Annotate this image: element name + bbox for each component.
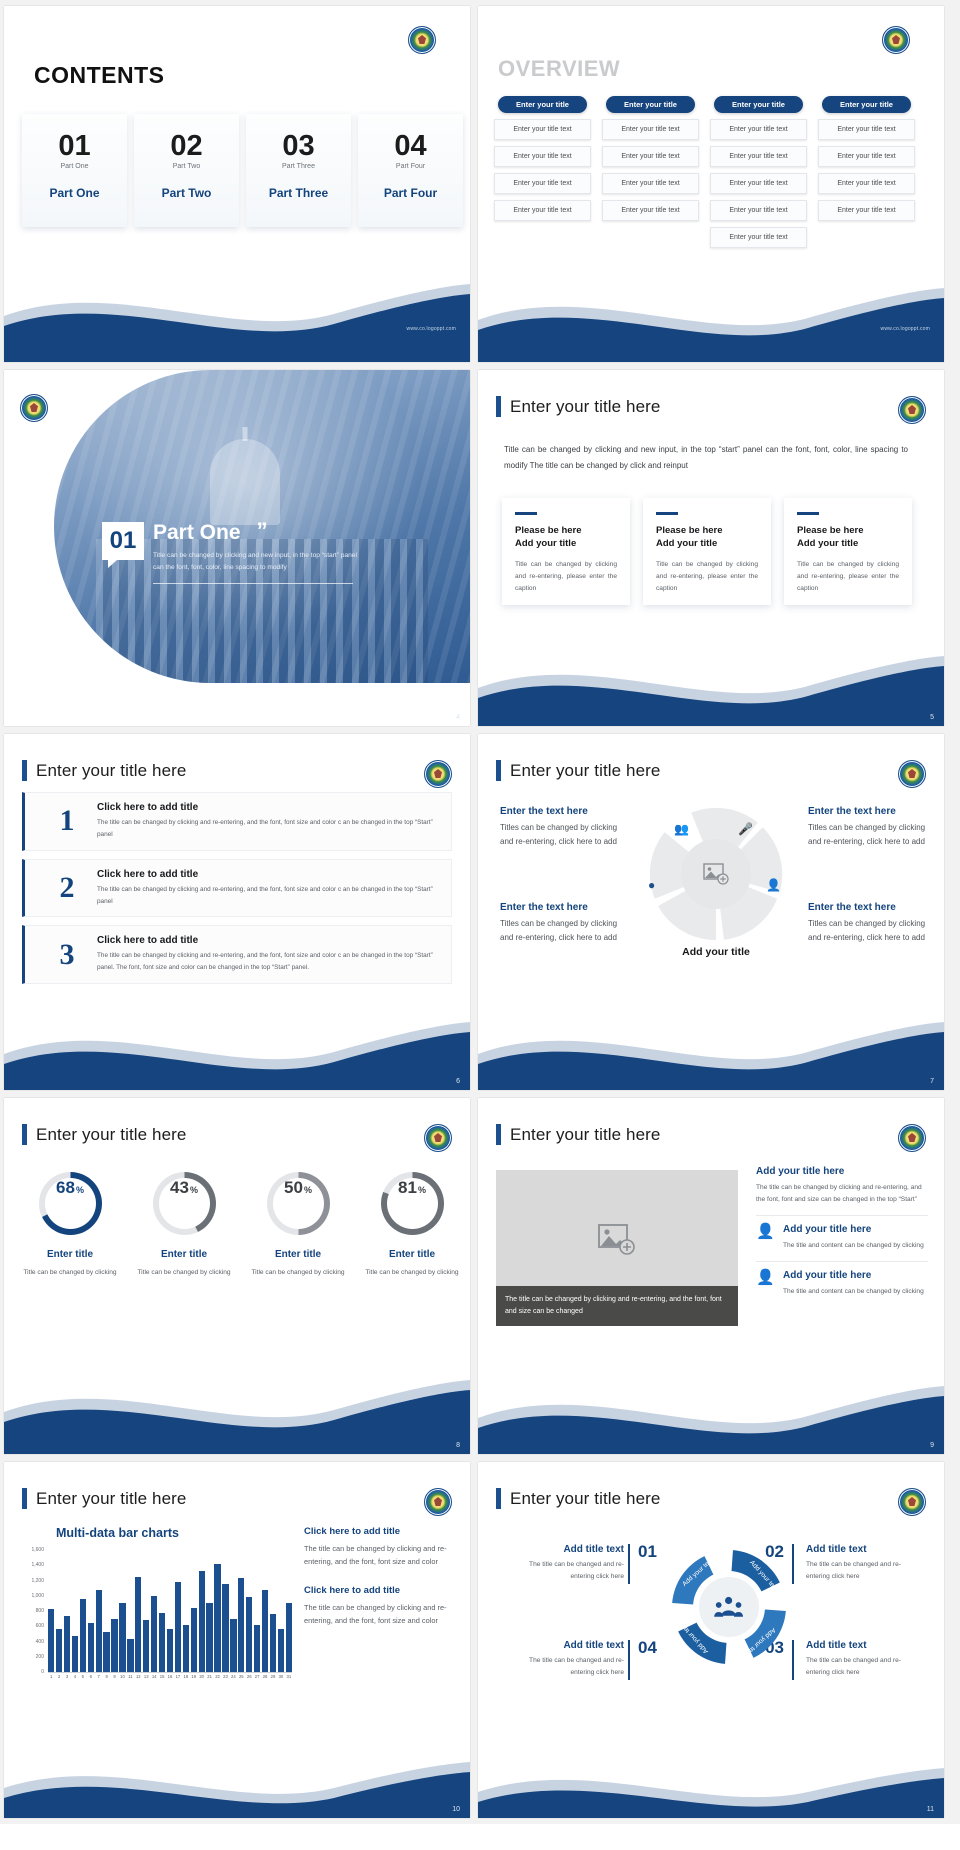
y-tick-label: 1,400 (31, 1562, 44, 1568)
text-body: The title can be changed by clicking and… (304, 1601, 456, 1628)
group-people-icon: 👥 (674, 822, 689, 836)
person-avatar-icon: 👤 (756, 1270, 775, 1289)
image-caption: The title can be changed by clicking and… (496, 1286, 738, 1326)
overview-column: Enter your title Enter your title text E… (710, 96, 807, 248)
dome-shape-icon (210, 439, 280, 525)
donut-label: Enter title (161, 1249, 207, 1260)
list-item[interactable]: 👤 Add your title here The title and cont… (756, 1261, 928, 1298)
label-title: Enter the text here (500, 806, 622, 817)
donut-value: 43 (170, 1178, 189, 1198)
overview-column: Enter your title Enter your title text E… (818, 96, 915, 248)
x-tick-label: 15 (159, 1674, 165, 1679)
page-number: 9 (930, 1442, 934, 1449)
y-tick-label: 1,600 (31, 1547, 44, 1553)
slide-grid: CONTENTS 01 Part One Part One 02 Part Tw… (0, 0, 960, 1824)
label-body: Titles can be changed by clicking and re… (500, 821, 622, 849)
footer-url: www.co.logoppt.com (881, 326, 930, 332)
column-title-pill[interactable]: Enter your title (714, 96, 803, 113)
cycle-item-top-right[interactable]: Add title text The title can be changed … (806, 1544, 918, 1583)
y-tick-label: 1,200 (31, 1578, 44, 1584)
university-logo-icon (898, 1488, 926, 1516)
bar (238, 1578, 244, 1672)
bar (206, 1603, 212, 1672)
bar (111, 1619, 117, 1672)
cycle-accent-bar (628, 1544, 630, 1584)
donut-percent-sign: % (304, 1185, 312, 1195)
diagram-label-top-left: Enter the text here Titles can be change… (500, 806, 622, 849)
item-title: Click here to add title (97, 869, 439, 880)
bar (262, 1590, 268, 1672)
donut-stat[interactable]: 50 % Enter title Title can be changed by… (244, 1172, 352, 1279)
item-body: The title can be changed and re-entering… (512, 1559, 624, 1583)
page-title: Enter your title here (36, 1125, 186, 1145)
page-title-row: Enter your title here (496, 1124, 660, 1145)
item-title: Click here to add title (97, 802, 439, 813)
headset-support-icon: 🎤 (738, 822, 753, 836)
x-tick-label: 29 (270, 1674, 276, 1679)
overview-box[interactable]: Enter your title text (602, 119, 699, 140)
x-tick-label: 23 (222, 1674, 228, 1679)
page-title: Enter your title here (36, 761, 186, 781)
card-number: 02 (170, 132, 202, 161)
bar (286, 1603, 292, 1672)
bar-chart: 1,6001,4001,2001,0008006004002000 123456… (24, 1550, 292, 1690)
donut-stat[interactable]: 81 % Enter title Title can be changed by… (358, 1172, 466, 1279)
overview-box[interactable]: Enter your title text (818, 173, 915, 194)
y-tick-label: 400 (36, 1639, 44, 1645)
slide-overview[interactable]: OVERVIEW Enter your title Enter your tit… (478, 6, 944, 362)
donut-chart: 81 % (381, 1172, 444, 1235)
label-title: Enter the text here (500, 902, 622, 913)
x-axis-labels: 1234567891011121314151617181920212223242… (48, 1674, 292, 1679)
x-tick-label: 13 (143, 1674, 149, 1679)
bar (278, 1629, 284, 1672)
x-tick-label: 8 (103, 1674, 109, 1679)
item-title: Add title text (806, 1544, 918, 1555)
slide-contents[interactable]: CONTENTS 01 Part One Part One 02 Part Tw… (4, 6, 470, 362)
item-body: The title can be changed and re-entering… (512, 1655, 624, 1679)
wave-decoration (4, 270, 470, 362)
image-placeholder-icon (703, 863, 729, 885)
card-body: Title can be changed by clicking and re-… (515, 559, 617, 596)
donut-label: Enter title (389, 1249, 435, 1260)
bar (199, 1571, 205, 1672)
card-title-line1: Please be here (797, 525, 864, 536)
column-title-pill[interactable]: Enter your title (822, 96, 911, 113)
column-title-pill[interactable]: Enter your title (498, 96, 587, 113)
donut-sublabel: Title can be changed by clicking (251, 1267, 344, 1279)
card-body: Title can be changed by clicking and re-… (797, 559, 899, 596)
donut-chart: 43 % (153, 1172, 216, 1235)
card-name: Part Two (162, 186, 212, 200)
wave-decoration (4, 1726, 470, 1818)
card-number: 04 (394, 132, 426, 161)
donut-percent-sign: % (418, 1185, 426, 1195)
x-tick-label: 12 (135, 1674, 141, 1679)
slide-donut-stats[interactable]: Enter your title here 68 % Enter title T… (4, 1098, 470, 1454)
donut-chart: 68 % (39, 1172, 102, 1235)
section-heading-block: 01 Part One ” Title can be changed by cl… (102, 522, 358, 584)
overview-box[interactable]: Enter your title text (494, 173, 591, 194)
list-item[interactable]: 1 Click here to add title The title can … (22, 792, 452, 851)
slide-cycle-diagram[interactable]: Enter your title here Add title text The… (478, 1462, 944, 1818)
diagram-center-label: Add your title (646, 946, 786, 958)
bar (72, 1636, 78, 1672)
card-body: Title can be changed by clicking and re-… (656, 559, 758, 596)
bar (151, 1596, 157, 1672)
card-subtitle: Part One (60, 163, 88, 170)
lead-paragraph: Title can be changed by clicking and new… (504, 442, 908, 474)
bar (135, 1577, 141, 1672)
wave-decoration (478, 998, 944, 1090)
x-tick-label: 18 (183, 1674, 189, 1679)
item-title: Click here to add title (97, 935, 439, 946)
info-card[interactable]: Please be hereAdd your title Title can b… (643, 498, 771, 605)
page-title-row: Enter your title here (22, 1124, 186, 1145)
cycle-accent-bar (792, 1640, 794, 1680)
overview-box[interactable]: Enter your title text (602, 146, 699, 167)
donut-value: 50 (284, 1178, 303, 1198)
lead-body: The title can be changed by clicking and… (756, 1182, 928, 1206)
contents-card[interactable]: 04 Part Four Part Four (358, 114, 463, 227)
slide-section-divider[interactable]: 01 Part One ” Title can be changed by cl… (4, 370, 470, 726)
page-number: 7 (930, 1078, 934, 1085)
item-body: The title can be changed by clicking and… (97, 884, 439, 908)
plot-area (48, 1550, 292, 1673)
page-number: 5 (930, 714, 934, 721)
card-number: 01 (58, 132, 90, 161)
overview-box[interactable]: Enter your title text (602, 173, 699, 194)
x-tick-label: 10 (119, 1674, 125, 1679)
x-tick-label: 19 (191, 1674, 197, 1679)
card-subtitle: Part Two (173, 163, 201, 170)
donut-chart: 50 % (267, 1172, 330, 1235)
title-accent-bar (496, 1488, 501, 1509)
contents-card[interactable]: 01 Part One Part One (22, 114, 127, 227)
list-item[interactable]: 3 Click here to add title The title can … (22, 925, 452, 984)
page-number: 11 (927, 1806, 934, 1813)
bar (88, 1623, 94, 1672)
item-body: The title can be changed by clicking and… (97, 817, 439, 841)
wave-decoration (478, 634, 944, 726)
overview-box[interactable]: Enter your title text (602, 200, 699, 221)
slide-three-cards[interactable]: Enter your title here Title can be chang… (478, 370, 944, 726)
x-tick-label: 9 (111, 1674, 117, 1679)
list-item[interactable]: 👤 Add your title here The title and cont… (756, 1215, 928, 1252)
circle-diagram[interactable]: 👥 🎤 ● 👤 (646, 804, 786, 944)
x-tick-label: 16 (167, 1674, 173, 1679)
donut-sublabel: Title can be changed by clicking (23, 1267, 116, 1279)
donut-row: 68 % Enter title Title can be changed by… (16, 1172, 466, 1279)
chart-side-text: Click here to add title The title can be… (304, 1526, 456, 1627)
section-description: Title can be changed by clicking and new… (153, 550, 358, 573)
x-tick-label: 21 (206, 1674, 212, 1679)
card-accent-dash (656, 512, 678, 515)
bar (143, 1620, 149, 1672)
title-accent-bar (496, 1124, 501, 1145)
x-tick-label: 1 (48, 1674, 54, 1679)
page-title-row: Enter your title here (22, 1488, 186, 1509)
page-title: Enter your title here (510, 397, 660, 417)
item-title: Add title text (512, 1640, 624, 1651)
wave-decoration (4, 998, 470, 1090)
x-tick-label: 27 (254, 1674, 260, 1679)
page-title: Enter your title here (510, 761, 660, 781)
page-title-row: Enter your title here (496, 1488, 660, 1509)
card-name: Part Four (384, 186, 437, 200)
overview-column: Enter your title Enter your title text E… (494, 96, 591, 248)
x-tick-label: 7 (96, 1674, 102, 1679)
card-number: 03 (282, 132, 314, 161)
bar (254, 1625, 260, 1672)
info-card[interactable]: Please be hereAdd your title Title can b… (784, 498, 912, 605)
page-title: OVERVIEW (498, 56, 620, 82)
item-body: The title can be changed and re-entering… (806, 1559, 918, 1583)
donut-label: Enter title (47, 1249, 93, 1260)
footer-url: www.co.logoppt.com (407, 326, 456, 332)
wave-decoration (4, 1362, 470, 1454)
page-number: 6 (456, 1078, 460, 1085)
overview-box[interactable]: Enter your title text (710, 119, 807, 140)
x-tick-label: 25 (238, 1674, 244, 1679)
diagram-label-top-right: Enter the text here Titles can be change… (808, 806, 933, 849)
university-logo-icon (898, 396, 926, 424)
x-tick-label: 17 (175, 1674, 181, 1679)
university-logo-icon (898, 760, 926, 788)
card-title-line2: Add your title (797, 538, 858, 549)
slide-numbered-list[interactable]: Enter your title here 1 Click here to ad… (4, 734, 470, 1090)
page-number: 10 (452, 1806, 460, 1813)
right-list: Add your title here The title can be cha… (756, 1166, 928, 1297)
card-subtitle: Part Three (282, 163, 315, 170)
x-tick-label: 4 (72, 1674, 78, 1679)
item-title: Add your title here (783, 1270, 924, 1281)
university-logo-icon (424, 1488, 452, 1516)
donut-percent-sign: % (190, 1185, 198, 1195)
bar (167, 1629, 173, 1672)
page-title: CONTENTS (34, 62, 165, 89)
overview-box[interactable]: Enter your title text (818, 200, 915, 221)
bar (48, 1609, 54, 1672)
overview-box[interactable]: Enter your title text (818, 119, 915, 140)
bar (80, 1599, 86, 1672)
bar (103, 1632, 109, 1672)
bar (175, 1582, 181, 1672)
chart-title: Multi-data bar charts (56, 1526, 179, 1540)
title-accent-bar (22, 1124, 27, 1145)
y-tick-label: 1,000 (31, 1593, 44, 1599)
wave-decoration (478, 1362, 944, 1454)
item-title: Add your title here (783, 1224, 924, 1235)
card-accent-dash (515, 512, 537, 515)
bar (127, 1639, 133, 1672)
x-tick-label: 2 (56, 1674, 62, 1679)
cycle-number: 01 (638, 1542, 657, 1562)
item-number: 2 (37, 873, 97, 903)
y-axis: 1,6001,4001,2001,0008006004002000 (24, 1550, 46, 1672)
university-logo-icon (424, 1124, 452, 1152)
bar (230, 1619, 236, 1672)
cycle-ring-diagram[interactable]: Add your text Add your text Add your tex… (666, 1544, 792, 1670)
title-accent-bar (496, 760, 501, 781)
donut-sublabel: Title can be changed by clicking (365, 1267, 458, 1279)
cycle-number: 04 (638, 1638, 657, 1658)
overview-box[interactable]: Enter your title text (818, 146, 915, 167)
bar (214, 1564, 220, 1672)
x-tick-label: 22 (214, 1674, 220, 1679)
x-tick-label: 26 (246, 1674, 252, 1679)
page-title-row: Enter your title here (496, 396, 660, 417)
university-logo-icon (898, 1124, 926, 1152)
diagram-label-bottom-right: Enter the text here Titles can be change… (808, 902, 933, 945)
y-tick-label: 600 (36, 1623, 44, 1629)
bar (64, 1616, 70, 1672)
overview-box[interactable]: Enter your title text (494, 119, 591, 140)
item-number: 1 (37, 806, 97, 836)
item-title: Add title text (512, 1544, 624, 1555)
card-accent-dash (797, 512, 819, 515)
donut-value: 68 (56, 1178, 75, 1198)
diagram-label-bottom-left: Enter the text here Titles can be change… (500, 902, 622, 945)
section-name: Part One (153, 522, 241, 543)
x-tick-label: 3 (64, 1674, 70, 1679)
contents-card[interactable]: 02 Part Two Part Two (134, 114, 239, 227)
cycle-accent-bar (628, 1640, 630, 1680)
donut-stat[interactable]: 68 % Enter title Title can be changed by… (16, 1172, 124, 1279)
item-title: Add title text (806, 1640, 918, 1651)
card-title-line1: Please be here (656, 525, 723, 536)
title-accent-bar (22, 1488, 27, 1509)
page-title: Enter your title here (510, 1489, 660, 1509)
donut-value: 81 (398, 1178, 417, 1198)
person-icon: 👤 (766, 878, 781, 892)
item-body: The title can be changed and re-entering… (806, 1655, 918, 1679)
x-tick-label: 24 (230, 1674, 236, 1679)
section-number: 01 (102, 522, 144, 560)
user-circle-icon: ● (648, 878, 655, 892)
page-title: Enter your title here (510, 1125, 660, 1145)
info-card[interactable]: Please be hereAdd your title Title can b… (502, 498, 630, 605)
x-tick-label: 31 (286, 1674, 292, 1679)
item-body: The title and content can be changed by … (783, 1240, 924, 1252)
item-body: The title and content can be changed by … (783, 1286, 924, 1298)
slide-bar-chart[interactable]: Enter your title here Multi-data bar cha… (4, 1462, 470, 1818)
page-number: 8 (456, 1442, 460, 1449)
y-tick-label: 0 (41, 1669, 44, 1675)
university-logo-icon (882, 26, 910, 54)
column-title-pill[interactable]: Enter your title (606, 96, 695, 113)
university-logo-icon (408, 26, 436, 54)
text-title: Click here to add title (304, 1526, 456, 1537)
page-title-row: Enter your title here (496, 760, 660, 781)
x-tick-label: 14 (151, 1674, 157, 1679)
bar (159, 1613, 165, 1672)
page-number: 4 (456, 714, 460, 721)
person-avatar-icon: 👤 (756, 1224, 775, 1243)
overview-box[interactable]: Enter your title text (710, 173, 807, 194)
card-subtitle: Part Four (396, 163, 425, 170)
numbered-list: 1 Click here to add title The title can … (22, 792, 452, 992)
text-title: Click here to add title (304, 1585, 456, 1596)
label-body: Titles can be changed by clicking and re… (500, 917, 622, 945)
bar (56, 1629, 62, 1672)
item-body: The title can be changed by clicking and… (97, 950, 439, 974)
page-title-row: Enter your title here (22, 760, 186, 781)
slide-circle-diagram[interactable]: Enter your title here Enter the text her… (478, 734, 944, 1090)
x-tick-label: 6 (88, 1674, 94, 1679)
donut-label: Enter title (275, 1249, 321, 1260)
x-tick-label: 5 (80, 1674, 86, 1679)
x-tick-label: 11 (127, 1674, 133, 1679)
y-tick-label: 200 (36, 1654, 44, 1660)
contents-card-list: 01 Part One Part One 02 Part Two Part Tw… (22, 114, 463, 227)
donut-sublabel: Title can be changed by clicking (137, 1267, 230, 1279)
label-body: Titles can be changed by clicking and re… (808, 917, 933, 945)
x-tick-label: 28 (262, 1674, 268, 1679)
overview-box[interactable]: Enter your title text (710, 200, 807, 221)
cycle-accent-bar (792, 1544, 794, 1584)
bar (96, 1590, 102, 1672)
card-title-line1: Please be here (515, 525, 582, 536)
title-accent-bar (496, 396, 501, 417)
wave-decoration (478, 270, 944, 362)
university-logo-icon (20, 394, 48, 422)
overview-box[interactable]: Enter your title text (710, 146, 807, 167)
quote-mark-icon: ” (257, 522, 268, 540)
cycle-item-top-left[interactable]: Add title text The title can be changed … (512, 1544, 624, 1583)
label-title: Enter the text here (808, 902, 933, 913)
bar (270, 1614, 276, 1672)
label-body: Titles can be changed by clicking and re… (808, 821, 933, 849)
university-logo-icon (424, 760, 452, 788)
page-title: Enter your title here (36, 1489, 186, 1509)
overview-box[interactable]: Enter your title text (494, 146, 591, 167)
x-tick-label: 30 (278, 1674, 284, 1679)
card-title-line2: Add your title (656, 538, 717, 549)
overview-box[interactable]: Enter your title text (710, 227, 807, 248)
overview-columns: Enter your title Enter your title text E… (494, 96, 915, 248)
card-name: Part Three (269, 186, 328, 200)
center-image-placeholder[interactable] (681, 839, 751, 909)
slide-image-list[interactable]: Enter your title here The title can be c… (478, 1098, 944, 1454)
item-number: 3 (37, 940, 97, 970)
bar (191, 1608, 197, 1672)
overview-box[interactable]: Enter your title text (494, 200, 591, 221)
y-tick-label: 800 (36, 1608, 44, 1614)
lead-title: Add your title here (756, 1166, 928, 1177)
list-item[interactable]: 2 Click here to add title The title can … (22, 859, 452, 918)
divider-rule (153, 583, 353, 584)
bar (222, 1584, 228, 1672)
contents-card[interactable]: 03 Part Three Part Three (246, 114, 351, 227)
bar (119, 1603, 125, 1672)
card-title-line2: Add your title (515, 538, 576, 549)
bar (246, 1597, 252, 1672)
image-placeholder-icon (598, 1224, 636, 1256)
cycle-item-bottom-right[interactable]: Add title text The title can be changed … (806, 1640, 918, 1679)
text-body: The title can be changed by clicking and… (304, 1542, 456, 1569)
wave-decoration (478, 1726, 944, 1818)
card-row: Please be hereAdd your title Title can b… (502, 498, 912, 605)
card-name: Part One (49, 186, 99, 200)
overview-column: Enter your title Enter your title text E… (602, 96, 699, 248)
bar (183, 1625, 189, 1672)
label-title: Enter the text here (808, 806, 933, 817)
x-tick-label: 20 (199, 1674, 205, 1679)
title-accent-bar (22, 760, 27, 781)
cycle-item-bottom-left[interactable]: Add title text The title can be changed … (512, 1640, 624, 1679)
donut-stat[interactable]: 43 % Enter title Title can be changed by… (130, 1172, 238, 1279)
